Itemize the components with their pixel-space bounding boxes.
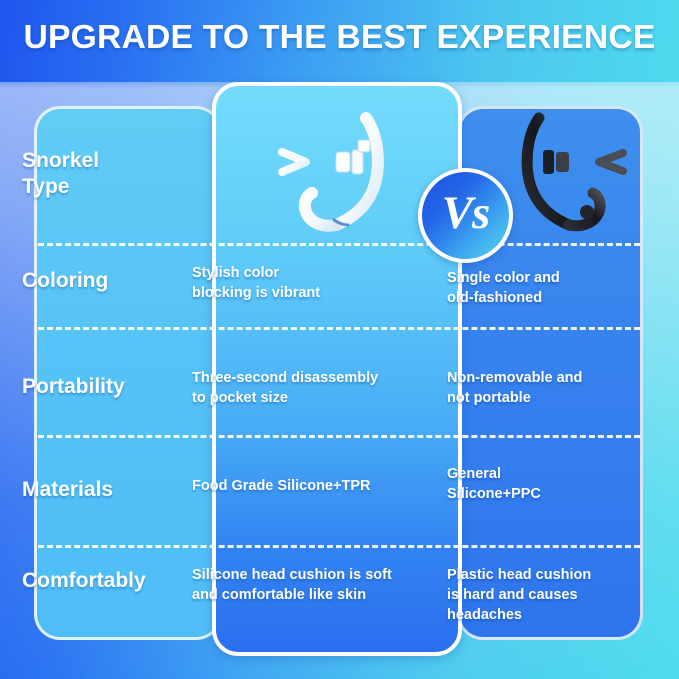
row-label-portability: Portability xyxy=(22,374,192,400)
theirs-cell-comfortably: Plastic head cushionis hard and causeshe… xyxy=(447,565,622,625)
theirs-cell-portability: Non-removable andnot portable xyxy=(447,368,622,408)
row-divider-2 xyxy=(38,327,640,330)
page-title: UPGRADE TO THE BEST EXPERIENCE xyxy=(0,18,679,56)
vs-badge: Vs xyxy=(418,168,513,263)
row-label-comfortably: Comfortably xyxy=(22,568,192,594)
white-snorkel-icon xyxy=(248,112,413,237)
row-label-snorkel-type: SnorkelType xyxy=(22,148,192,199)
ours-cell-coloring: Stylish colorblocking is vibrant xyxy=(192,263,432,303)
row-divider-4 xyxy=(38,545,640,548)
row-divider-3 xyxy=(38,435,640,438)
theirs-cell-coloring: Single color andold-fashioned xyxy=(447,268,622,308)
vs-badge-label: Vs xyxy=(442,190,490,237)
row-label-materials: Materials xyxy=(22,477,192,503)
theirs-cell-materials: GeneralSilicone+PPC xyxy=(447,464,622,504)
ours-cell-portability: Three-second disassemblyto pocket size xyxy=(192,368,432,408)
black-snorkel-icon xyxy=(492,112,657,237)
ours-cell-comfortably: Silicone head cushion is softand comfort… xyxy=(192,565,432,605)
ours-cell-materials: Food Grade Silicone+TPR xyxy=(192,476,432,496)
row-divider-1 xyxy=(38,243,640,246)
row-label-coloring: Coloring xyxy=(22,268,192,294)
